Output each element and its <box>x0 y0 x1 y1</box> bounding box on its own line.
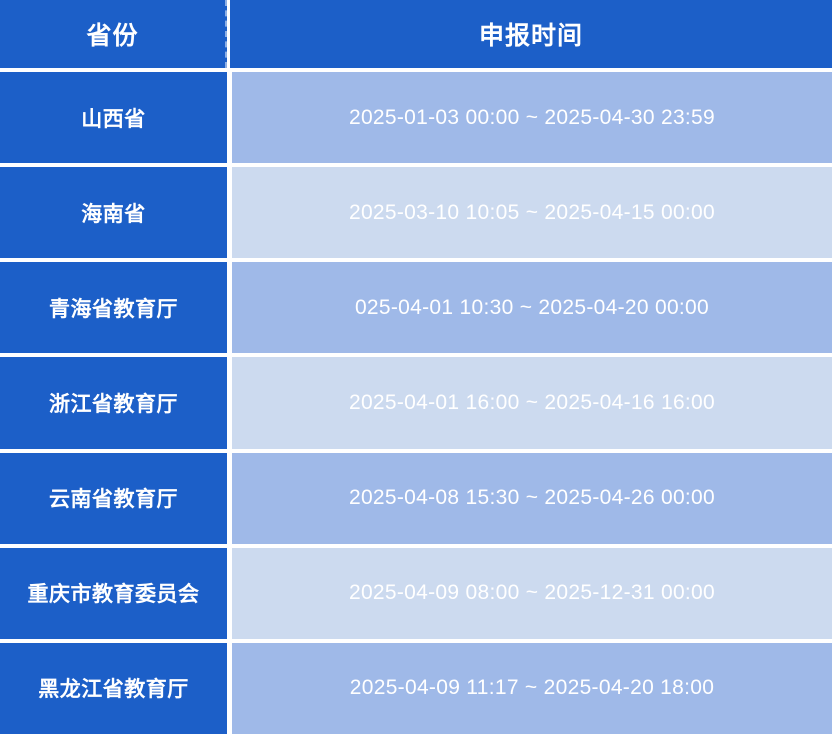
cell-province: 海南省 <box>0 167 227 258</box>
cell-province: 黑龙江省教育厅 <box>0 643 227 734</box>
cell-time: 2025-04-09 08:00 ~ 2025-12-31 00:00 <box>232 548 832 639</box>
table-row: 青海省教育厅 025-04-01 10:30 ~ 2025-04-20 00:0… <box>0 262 832 353</box>
cell-time: 2025-04-09 11:17 ~ 2025-04-20 18:00 <box>232 643 832 734</box>
table-header-row: 省份 申报时间 <box>0 0 832 68</box>
cell-province: 云南省教育厅 <box>0 453 227 544</box>
cell-province: 青海省教育厅 <box>0 262 227 353</box>
column-header-time: 申报时间 <box>230 0 832 68</box>
cell-province: 重庆市教育委员会 <box>0 548 227 639</box>
cell-time: 025-04-01 10:30 ~ 2025-04-20 00:00 <box>232 262 832 353</box>
column-header-province: 省份 <box>0 0 227 68</box>
cell-province: 山西省 <box>0 72 227 163</box>
table-row: 山西省 2025-01-03 00:00 ~ 2025-04-30 23:59 <box>0 72 832 163</box>
table-row: 云南省教育厅 2025-04-08 15:30 ~ 2025-04-26 00:… <box>0 453 832 544</box>
table-row: 黑龙江省教育厅 2025-04-09 11:17 ~ 2025-04-20 18… <box>0 643 832 734</box>
cell-province: 浙江省教育厅 <box>0 357 227 448</box>
table-row: 浙江省教育厅 2025-04-01 16:00 ~ 2025-04-16 16:… <box>0 357 832 448</box>
declaration-schedule-table: 省份 申报时间 山西省 2025-01-03 00:00 ~ 2025-04-3… <box>0 0 832 734</box>
cell-time: 2025-04-01 16:00 ~ 2025-04-16 16:00 <box>232 357 832 448</box>
table-row: 重庆市教育委员会 2025-04-09 08:00 ~ 2025-12-31 0… <box>0 548 832 639</box>
cell-time: 2025-04-08 15:30 ~ 2025-04-26 00:00 <box>232 453 832 544</box>
cell-time: 2025-01-03 00:00 ~ 2025-04-30 23:59 <box>232 72 832 163</box>
cell-time: 2025-03-10 10:05 ~ 2025-04-15 00:00 <box>232 167 832 258</box>
table-row: 海南省 2025-03-10 10:05 ~ 2025-04-15 00:00 <box>0 167 832 258</box>
